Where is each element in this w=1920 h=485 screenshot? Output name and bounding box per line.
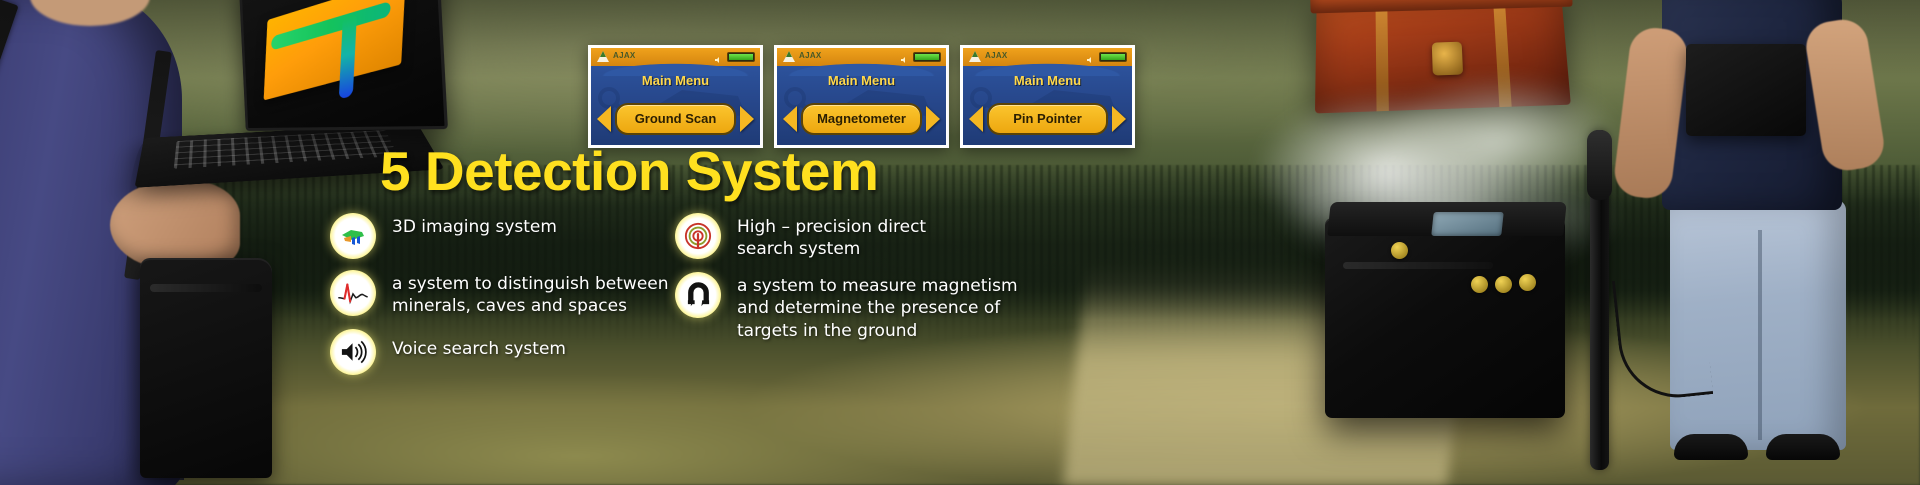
brand-name: AJAX: [613, 51, 636, 60]
promo-banner: AJAX Main Menu Ground Scan: [0, 0, 1920, 485]
detector-pole-grip: [1587, 130, 1612, 200]
speaker-icon: [1086, 52, 1096, 62]
speaker-sound-icon: [330, 329, 376, 375]
brand-logo-icon: [967, 49, 983, 65]
detector-knob-3: [1519, 274, 1536, 291]
menu-option-button[interactable]: Magnetometer: [801, 103, 922, 135]
detector-body: [1325, 218, 1565, 418]
page-title: 5 Detection System: [380, 139, 940, 203]
brand-name: AJAX: [799, 51, 822, 60]
ground-scan-visualization: [264, 0, 406, 101]
right-operator: [1600, 0, 1920, 485]
chest-band-left: [1375, 0, 1388, 111]
treasure-chest: [1296, 0, 1596, 155]
battery-full-icon: [1099, 52, 1127, 62]
prev-arrow-icon[interactable]: [969, 106, 983, 132]
feature-label-line1: a system to distinguish between: [392, 274, 669, 294]
next-arrow-icon[interactable]: [1112, 106, 1126, 132]
right-operator-shoe-left: [1674, 434, 1748, 460]
detector-knob-1: [1471, 276, 1488, 293]
menu-card-ground-scan[interactable]: AJAX Main Menu Ground Scan: [588, 45, 763, 148]
battery-full-icon: [727, 52, 755, 62]
feature-label: Voice search system: [392, 335, 566, 360]
feature-item-magnetism: a system to measure magnetism and determ…: [675, 272, 1145, 342]
feature-label-line2: minerals, caves and spaces: [392, 296, 627, 316]
card-status-bar: AJAX: [777, 48, 946, 66]
detector-case: [1325, 196, 1590, 426]
feature-label-line2: search system: [737, 239, 860, 259]
3d-terrain-icon: [330, 213, 376, 259]
brand-logo-icon: [595, 49, 611, 65]
feature-label-line1: a system to measure magnetism: [737, 276, 1018, 296]
next-arrow-icon[interactable]: [740, 106, 754, 132]
speaker-icon: [714, 52, 724, 62]
prev-arrow-icon[interactable]: [783, 106, 797, 132]
feature-label: High – precision direct search system: [737, 213, 926, 261]
detector-cable: [1612, 272, 1713, 404]
feature-item-high-precision: High – precision direct search system: [675, 213, 1145, 261]
equipment-bag: [140, 258, 272, 478]
horseshoe-magnet-icon: [675, 272, 721, 318]
feature-label-line3: targets in the ground: [737, 321, 917, 341]
feature-label: 3D imaging system: [392, 213, 557, 238]
laptop-keyboard: [174, 130, 398, 169]
prev-arrow-icon[interactable]: [597, 106, 611, 132]
feature-label-line2: and determine the presence of: [737, 298, 1000, 318]
brand-name: AJAX: [985, 51, 1008, 60]
feature-list-right: High – precision direct search system a …: [675, 213, 1145, 353]
menu-card-pin-pointer[interactable]: AJAX Main Menu Pin Pointer: [960, 45, 1135, 148]
feature-label: a system to distinguish between minerals…: [392, 270, 669, 318]
card-status-bar: AJAX: [591, 48, 760, 66]
chest-band-right: [1493, 0, 1512, 107]
scan-anomaly-vertical: [339, 13, 357, 99]
detector-top-panel: [1327, 202, 1567, 236]
speaker-icon: [900, 52, 910, 62]
left-operator-arm: [110, 180, 240, 270]
right-operator-shoe-right: [1766, 434, 1840, 460]
feature-label-line1: High – precision direct: [737, 217, 926, 237]
card-status-bar: AJAX: [963, 48, 1132, 66]
menu-card-magnetometer[interactable]: AJAX Main Menu Magnetometer: [774, 45, 949, 148]
feature-label: a system to measure magnetism and determ…: [737, 272, 1018, 342]
menu-option-button[interactable]: Ground Scan: [615, 103, 736, 135]
detector-knob-4: [1391, 242, 1408, 259]
waveform-pulse-icon: [330, 270, 376, 316]
menu-card-group: AJAX Main Menu Ground Scan: [588, 45, 1135, 148]
detector-knob-2: [1495, 276, 1512, 293]
menu-option-button[interactable]: Pin Pointer: [987, 103, 1108, 135]
battery-full-icon: [913, 52, 941, 62]
handheld-detector-unit: [1686, 44, 1806, 136]
detector-handle: [1343, 262, 1493, 269]
signal-target-icon: [675, 213, 721, 259]
chest-body: [1315, 0, 1571, 113]
laptop-screen: [239, 0, 448, 131]
chest-lock: [1432, 42, 1463, 76]
brand-logo-icon: [781, 49, 797, 65]
detector-screen: [1431, 212, 1504, 236]
next-arrow-icon[interactable]: [926, 106, 940, 132]
